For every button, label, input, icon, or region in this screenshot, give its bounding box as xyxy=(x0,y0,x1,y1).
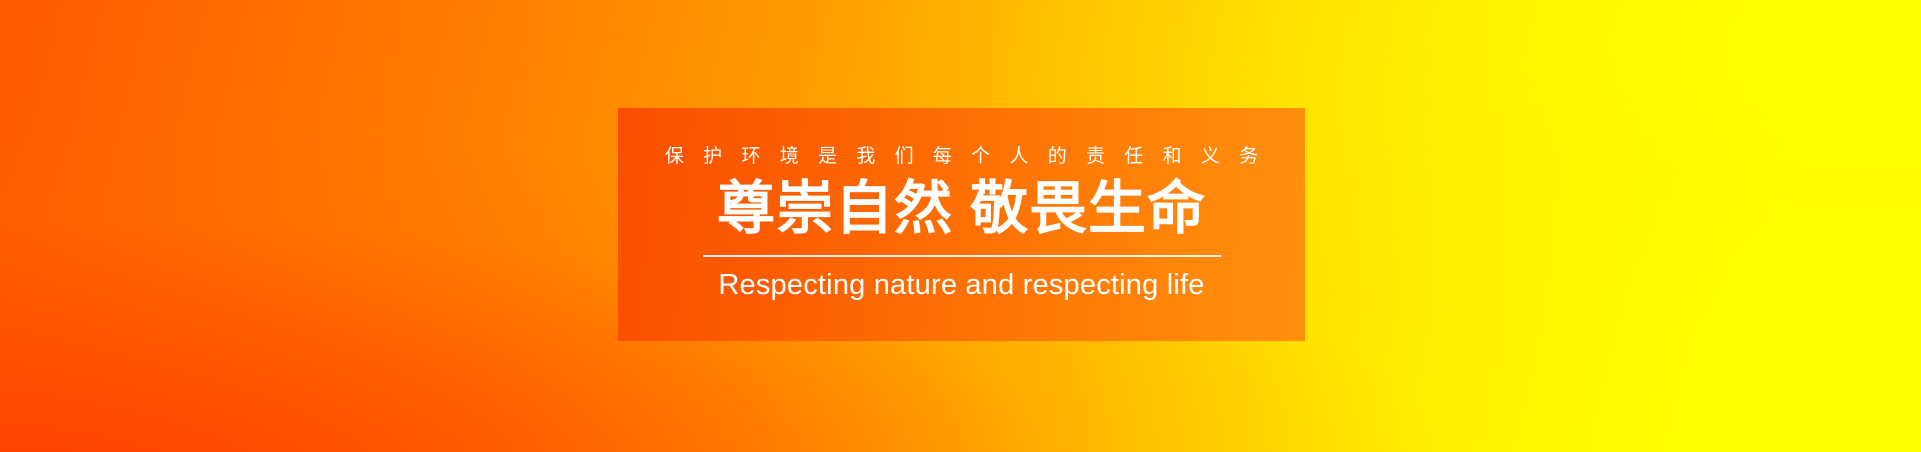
panel-subtitle-english: Respecting nature and respecting life xyxy=(718,270,1204,302)
environment-banner: 保 护 环 境 是 我 们 每 个 人 的 责 任 和 义 务 尊崇自然 敬畏生… xyxy=(0,0,1921,452)
panel-eyebrow-text: 保 护 环 境 是 我 们 每 个 人 的 责 任 和 义 务 xyxy=(658,147,1265,166)
panel-divider xyxy=(703,255,1221,257)
message-panel: 保 护 环 境 是 我 们 每 个 人 的 责 任 和 义 务 尊崇自然 敬畏生… xyxy=(618,108,1305,341)
panel-headline: 尊崇自然 敬畏生命 xyxy=(717,178,1206,239)
